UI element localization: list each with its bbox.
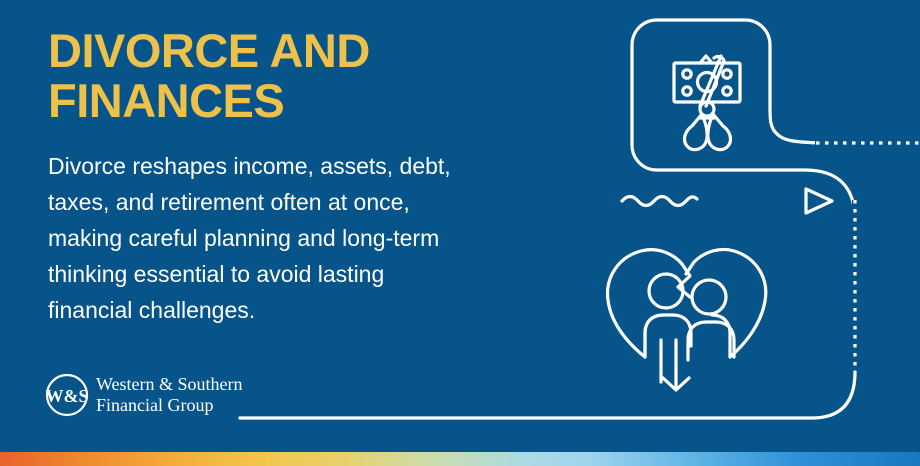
wavy-line-icon	[622, 197, 697, 206]
page-subtitle: Divorce reshapes income, assets, debt, t…	[48, 126, 568, 328]
baseline-curve-path	[240, 372, 855, 418]
brand-wordmark: Western & Southern Financial Group	[96, 374, 243, 416]
ws-monogram-text: W&S	[45, 386, 88, 406]
broken-heart-couple-icon	[608, 249, 766, 390]
banner-graphic: DIVORCE AND FINANCES Divorce reshapes in…	[0, 0, 920, 466]
play-triangle-icon	[806, 189, 832, 213]
money-being-cut-icon	[674, 56, 740, 150]
text-column: DIVORCE AND FINANCES Divorce reshapes in…	[48, 26, 568, 328]
bottom-gradient-bar	[0, 452, 920, 466]
ws-monogram-icon: W&S	[44, 372, 90, 418]
page-title: DIVORCE AND FINANCES	[48, 26, 568, 126]
brand-logo: W&S Western & Southern Financial Group	[44, 372, 243, 418]
